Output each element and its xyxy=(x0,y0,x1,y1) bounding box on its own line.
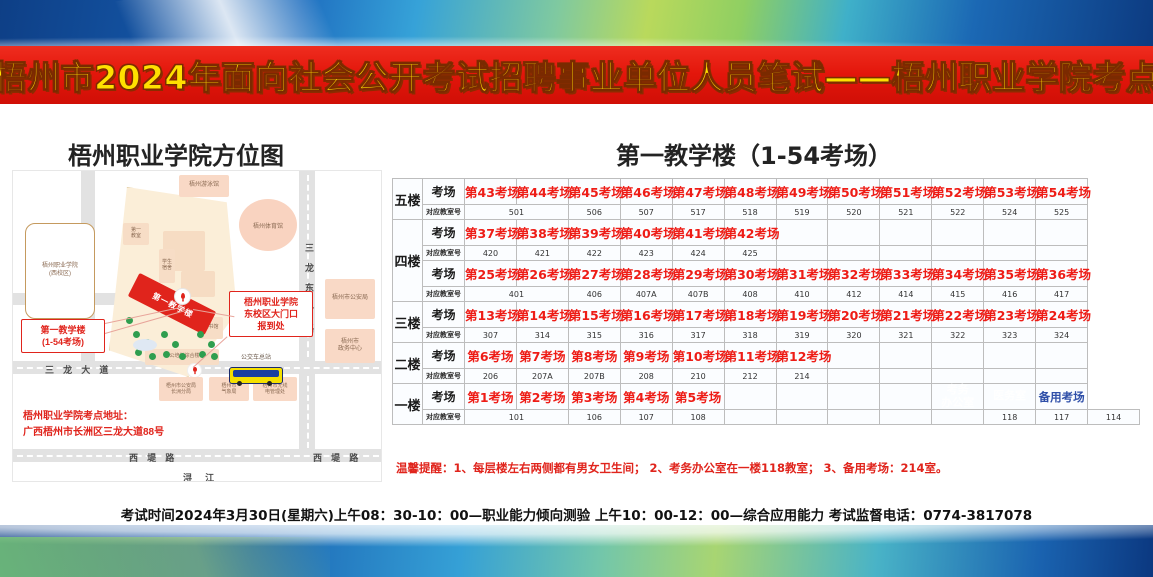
empty-cell xyxy=(880,246,932,261)
exam-hall-cell: 第29考场 xyxy=(672,261,724,287)
classroom-number-cell: 101 xyxy=(465,410,569,425)
empty-cell xyxy=(828,410,880,425)
empty-cell xyxy=(776,246,828,261)
row-header-hall: 考场 xyxy=(423,343,465,369)
empty-cell xyxy=(1036,220,1088,246)
empty-cell xyxy=(776,220,828,246)
road-label-sanlong-dadao: 三 龙 大 道 xyxy=(45,363,111,376)
classroom-number-cell: 501 xyxy=(465,205,569,220)
classroom-number-cell: 506 xyxy=(568,205,620,220)
exam-hall-cell: 第18考场 xyxy=(724,302,776,328)
tree-icon xyxy=(149,353,156,360)
exam-hall-cell: 第53考场 xyxy=(984,179,1036,205)
bus-station-label: 公交车总站 xyxy=(221,355,291,362)
classroom-number-cell: 317 xyxy=(672,328,724,343)
exam-hall-cell: 第4考场 xyxy=(620,384,672,410)
empty-cell xyxy=(828,220,880,246)
empty-cell xyxy=(828,246,880,261)
exam-hall-cell: 第47考场 xyxy=(672,179,724,205)
exam-hall-cell: 第5考场 xyxy=(672,384,724,410)
exam-hall-cell: 第6考场 xyxy=(465,343,517,369)
exam-hall-cell: 第16考场 xyxy=(620,302,672,328)
classroom-number-cell: 408 xyxy=(724,287,776,302)
empty-cell xyxy=(880,369,932,384)
venue-address-line1: 梧州职业学院考点地址： xyxy=(23,409,253,425)
table-row: 对应教室号206207A207B208210212214 xyxy=(393,369,1140,384)
exam-hall-cell: 考务 办公室 xyxy=(932,384,984,410)
empty-cell xyxy=(1036,343,1088,369)
row-header-hall: 考场 xyxy=(423,179,465,205)
empty-cell xyxy=(932,410,984,425)
empty-cell xyxy=(984,246,1036,261)
exam-hall-cell: 第15考场 xyxy=(568,302,620,328)
exam-hall-cell: 第54考场 xyxy=(1036,179,1088,205)
road-label-xidi-lu-right: 西 堤 路 xyxy=(313,451,361,464)
row-header-hall: 考场 xyxy=(423,220,465,246)
empty-cell xyxy=(984,220,1036,246)
exam-hall-cell: 第39考场 xyxy=(568,220,620,246)
callout-registration-gate: 梧州职业学院 东校区大门口 报到处 xyxy=(229,291,313,337)
empty-cell xyxy=(724,384,776,410)
classroom-number-cell: 307 xyxy=(465,328,517,343)
road-label-xidi-lu-left: 西 堤 路 xyxy=(129,451,177,464)
exam-hall-cell: 第33考场 xyxy=(880,261,932,287)
exam-hall-cell: 第10考场 xyxy=(672,343,724,369)
classroom-number-cell: 521 xyxy=(880,205,932,220)
exam-hall-cell: 第2考场 xyxy=(516,384,568,410)
landmark-public-security-bureau: 梧州市公安局 xyxy=(325,279,375,319)
exam-hall-cell: 第35考场 xyxy=(984,261,1036,287)
exam-hall-cell: 第25考场 xyxy=(465,261,517,287)
exam-hall-cell: 第11考场 xyxy=(724,343,776,369)
classroom-number-cell: 323 xyxy=(984,328,1036,343)
exam-hall-cell: 第8考场 xyxy=(568,343,620,369)
classroom-number-cell: 315 xyxy=(568,328,620,343)
row-header-hall: 考场 xyxy=(423,302,465,328)
exam-hall-cell: 第34考场 xyxy=(932,261,984,287)
tree-icon xyxy=(172,341,179,348)
exam-hall-cell: 第32考场 xyxy=(828,261,880,287)
tree-icon xyxy=(163,351,170,358)
classroom-number-cell: 524 xyxy=(984,205,1036,220)
exam-hall-cell: 第50考场 xyxy=(828,179,880,205)
venue-address: 梧州职业学院考点地址： 广西梧州市长洲区三龙大道88号 xyxy=(23,409,253,441)
tree-icon xyxy=(133,331,140,338)
empty-cell xyxy=(880,343,932,369)
classroom-number-cell: 321 xyxy=(880,328,932,343)
empty-cell xyxy=(932,246,984,261)
classroom-number-cell: 410 xyxy=(776,287,828,302)
table-row: 五楼考场第43考场第44考场第45考场第46考场第47考场第48考场第49考场第… xyxy=(393,179,1140,205)
empty-cell xyxy=(984,369,1036,384)
classroom-number-cell: 117 xyxy=(1036,410,1088,425)
row-header-room: 对应教室号 xyxy=(423,410,465,425)
bottom-green-corner-decoration xyxy=(0,537,330,577)
exam-hall-cell: 第43考场 xyxy=(465,179,517,205)
exam-hall-cell: 第23考场 xyxy=(984,302,1036,328)
classroom-number-cell: 106 xyxy=(568,410,620,425)
exam-hall-cell: 第31考场 xyxy=(776,261,828,287)
table-section-heading: 第一教学楼（1-54考场） xyxy=(616,136,892,171)
classroom-number-cell: 517 xyxy=(672,205,724,220)
classroom-number-cell: 423 xyxy=(620,246,672,261)
table-row: 对应教室号101106107108118117114 xyxy=(393,410,1140,425)
classroom-number-cell: 422 xyxy=(568,246,620,261)
tree-icon xyxy=(179,353,186,360)
page-title: 梧州市2024年面向社会公开考试招聘事业单位人员笔试——梧州职业学院考点 xyxy=(0,46,1153,104)
river-label-xunjiang: 浔 江 xyxy=(183,471,219,482)
exam-hall-cell: 第14考场 xyxy=(516,302,568,328)
floor-label-1: 四楼 xyxy=(393,220,423,302)
classroom-number-cell: 324 xyxy=(1036,328,1088,343)
exam-hall-cell: 第48考场 xyxy=(724,179,776,205)
exam-room-table: 五楼考场第43考场第44考场第45考场第46考场第47考场第48考场第49考场第… xyxy=(392,178,1140,425)
exam-hall-cell: 第42考场 xyxy=(724,220,776,246)
exam-hall-cell: 第19考场 xyxy=(776,302,828,328)
exam-hall-cell: 第26考场 xyxy=(516,261,568,287)
classroom-number-cell: 420 xyxy=(465,246,517,261)
campus-pond-shape xyxy=(133,339,157,351)
exam-hall-cell: 第40考场 xyxy=(620,220,672,246)
floor-label-2: 三楼 xyxy=(393,302,423,343)
empty-cell xyxy=(1036,246,1088,261)
exam-hall-cell: 第21考场 xyxy=(880,302,932,328)
classroom-number-cell: 518 xyxy=(724,205,776,220)
classroom-number-cell: 212 xyxy=(724,369,776,384)
table-row: 对应教室号501506507517518519520521522524525 xyxy=(393,205,1140,220)
floor-label-4: 一楼 xyxy=(393,384,423,425)
classroom-number-cell: 208 xyxy=(620,369,672,384)
callout-first-teaching-building: 第一教学楼 (1-54考场) xyxy=(21,319,105,353)
table-row: 一楼考场第1考场第2考场第3考场第4考场第5考场考务 办公室医务室备用考场 xyxy=(393,384,1140,410)
exam-hall-cell: 第22考场 xyxy=(932,302,984,328)
classroom-number-cell: 519 xyxy=(776,205,828,220)
empty-cell xyxy=(932,220,984,246)
classroom-number-cell: 407B xyxy=(672,287,724,302)
venue-address-line2: 广西梧州市长洲区三龙大道88号 xyxy=(23,425,253,441)
exam-hall-cell: 医务室 xyxy=(984,384,1036,410)
classroom-number-cell: 401 xyxy=(465,287,569,302)
classroom-number-cell: 415 xyxy=(932,287,984,302)
classroom-number-cell: 319 xyxy=(776,328,828,343)
exam-hall-cell: 第1考场 xyxy=(465,384,517,410)
empty-cell xyxy=(880,410,932,425)
exam-hall-cell: 第41考场 xyxy=(672,220,724,246)
exam-hall-cell: 第12考场 xyxy=(776,343,828,369)
exam-hall-cell: 第45考场 xyxy=(568,179,620,205)
empty-cell xyxy=(724,410,776,425)
exam-hall-cell: 第3考场 xyxy=(568,384,620,410)
classroom-number-cell: 320 xyxy=(828,328,880,343)
landmark-swimming-pool: 梧州游泳馆 xyxy=(179,175,229,197)
campus-location-map: 三 龙 东 一 路 三 龙 大 道 西 堤 路 西 堤 路 浔 江 第一 教室 … xyxy=(12,170,382,482)
exam-hall-cell: 第51考场 xyxy=(880,179,932,205)
classroom-number-cell: 425 xyxy=(724,246,776,261)
row-header-hall: 考场 xyxy=(423,261,465,287)
classroom-number-cell: 407A xyxy=(620,287,672,302)
classroom-number-cell: 421 xyxy=(516,246,568,261)
empty-cell xyxy=(932,369,984,384)
classroom-number-cell: 214 xyxy=(776,369,828,384)
exam-hall-cell: 第7考场 xyxy=(516,343,568,369)
landmark-government-center: 梧州市 政务中心 xyxy=(325,329,375,363)
classroom-number-cell: 210 xyxy=(672,369,724,384)
classroom-number-cell: 414 xyxy=(880,287,932,302)
classroom-number-cell: 206 xyxy=(465,369,517,384)
exam-hall-cell: 第24考场 xyxy=(1036,302,1088,328)
exam-hall-cell: 第44考场 xyxy=(516,179,568,205)
floor-label-3: 二楼 xyxy=(393,343,423,384)
exam-hall-cell: 第49考场 xyxy=(776,179,828,205)
empty-cell xyxy=(984,343,1036,369)
classroom-number-cell: 417 xyxy=(1036,287,1088,302)
empty-cell xyxy=(776,384,828,410)
table-row: 考场第25考场第26考场第27考场第28考场第29考场第30考场第31考场第32… xyxy=(393,261,1140,287)
empty-cell xyxy=(828,384,880,410)
row-header-room: 对应教室号 xyxy=(423,246,465,261)
classroom-number-cell: 318 xyxy=(724,328,776,343)
row-header-room: 对应教室号 xyxy=(423,205,465,220)
empty-cell xyxy=(776,410,828,425)
bus-icon xyxy=(229,367,283,384)
classroom-number-cell: 314 xyxy=(516,328,568,343)
table-row: 对应教室号401406407A407B408410412414415416417 xyxy=(393,287,1140,302)
classroom-number-cell: 507 xyxy=(620,205,672,220)
row-header-room: 对应教室号 xyxy=(423,369,465,384)
floor-label-0: 五楼 xyxy=(393,179,423,220)
classroom-number-cell: 207B xyxy=(568,369,620,384)
exam-hall-cell: 第30考场 xyxy=(724,261,776,287)
location-pin-icon xyxy=(175,289,190,308)
table-row: 二楼考场第6考场第7考场第8考场第9考场第10考场第11考场第12考场 xyxy=(393,343,1140,369)
classroom-number-cell: 416 xyxy=(984,287,1036,302)
warm-tip-note: 温馨提醒：1、每层楼左右两侧都有男女卫生间； 2、考务办公室在一楼118教室； … xyxy=(396,460,1140,476)
row-header-room: 对应教室号 xyxy=(423,328,465,343)
exam-hall-cell: 备用考场 xyxy=(1036,384,1088,410)
table-row: 对应教室号420421422423424425 xyxy=(393,246,1140,261)
empty-cell xyxy=(1036,369,1088,384)
classroom-number-cell: 406 xyxy=(568,287,620,302)
exam-hall-cell: 第37考场 xyxy=(465,220,517,246)
exam-time-footer: 考试时间2024年3月30日(星期六)上午08：30-10：00—职业能力倾向测… xyxy=(0,504,1153,524)
west-campus-area: 梧州职业学院 (西校区) xyxy=(25,223,95,319)
table-row: 三楼考场第13考场第14考场第15考场第16考场第17考场第18考场第19考场第… xyxy=(393,302,1140,328)
tree-icon xyxy=(197,331,204,338)
classroom-number-cell: 207A xyxy=(516,369,568,384)
tree-icon xyxy=(211,353,218,360)
exam-hall-cell: 第38考场 xyxy=(516,220,568,246)
tree-icon xyxy=(161,331,168,338)
classroom-number-cell: 412 xyxy=(828,287,880,302)
table-row: 四楼考场第37考场第38考场第39考场第40考场第41考场第42考场 xyxy=(393,220,1140,246)
classroom-number-cell: 316 xyxy=(620,328,672,343)
exam-hall-cell: 第9考场 xyxy=(620,343,672,369)
empty-cell xyxy=(880,384,932,410)
exam-hall-cell: 第46考场 xyxy=(620,179,672,205)
exam-hall-cell: 第13考场 xyxy=(465,302,517,328)
landmark-psb-changzhou-branch: 梧州市公安局 长洲分局 xyxy=(159,377,203,401)
road-dash-vertical-lower xyxy=(307,376,309,448)
classroom-number-cell: 322 xyxy=(932,328,984,343)
classroom-number-cell: 525 xyxy=(1036,205,1088,220)
classroom-number-cell: 520 xyxy=(828,205,880,220)
exam-hall-cell: 第28考场 xyxy=(620,261,672,287)
exam-hall-cell: 第52考场 xyxy=(932,179,984,205)
exam-hall-cell: 第36考场 xyxy=(1036,261,1088,287)
classroom-number-cell: 108 xyxy=(672,410,724,425)
exam-hall-cell: 第27考场 xyxy=(568,261,620,287)
exam-hall-cell: 第17考场 xyxy=(672,302,724,328)
building-dorm-label-holder: 学生宿舍 xyxy=(159,249,175,283)
map-section-heading: 梧州职业学院方位图 xyxy=(68,136,284,171)
empty-cell xyxy=(828,369,880,384)
classroom-number-cell: 424 xyxy=(672,246,724,261)
poster-root: 梧州市2024年面向社会公开考试招聘事业单位人员笔试——梧州职业学院考点 梧州职… xyxy=(0,0,1153,577)
building-first-classroom: 第一 教室 xyxy=(123,223,149,245)
row-header-room: 对应教室号 xyxy=(423,287,465,302)
classroom-number-cell: 522 xyxy=(932,205,984,220)
classroom-number-cell: 118 xyxy=(984,410,1036,425)
empty-cell xyxy=(932,343,984,369)
classroom-number-cell: 107 xyxy=(620,410,672,425)
table-row: 对应教室号30731431531631731831932032132232332… xyxy=(393,328,1140,343)
empty-cell xyxy=(880,220,932,246)
row-header-hall: 考场 xyxy=(423,384,465,410)
exam-hall-cell: 第20考场 xyxy=(828,302,880,328)
empty-cell xyxy=(828,343,880,369)
classroom-number-cell: 114 xyxy=(1088,410,1140,425)
landmark-stadium: 梧州体育馆 xyxy=(239,199,297,251)
